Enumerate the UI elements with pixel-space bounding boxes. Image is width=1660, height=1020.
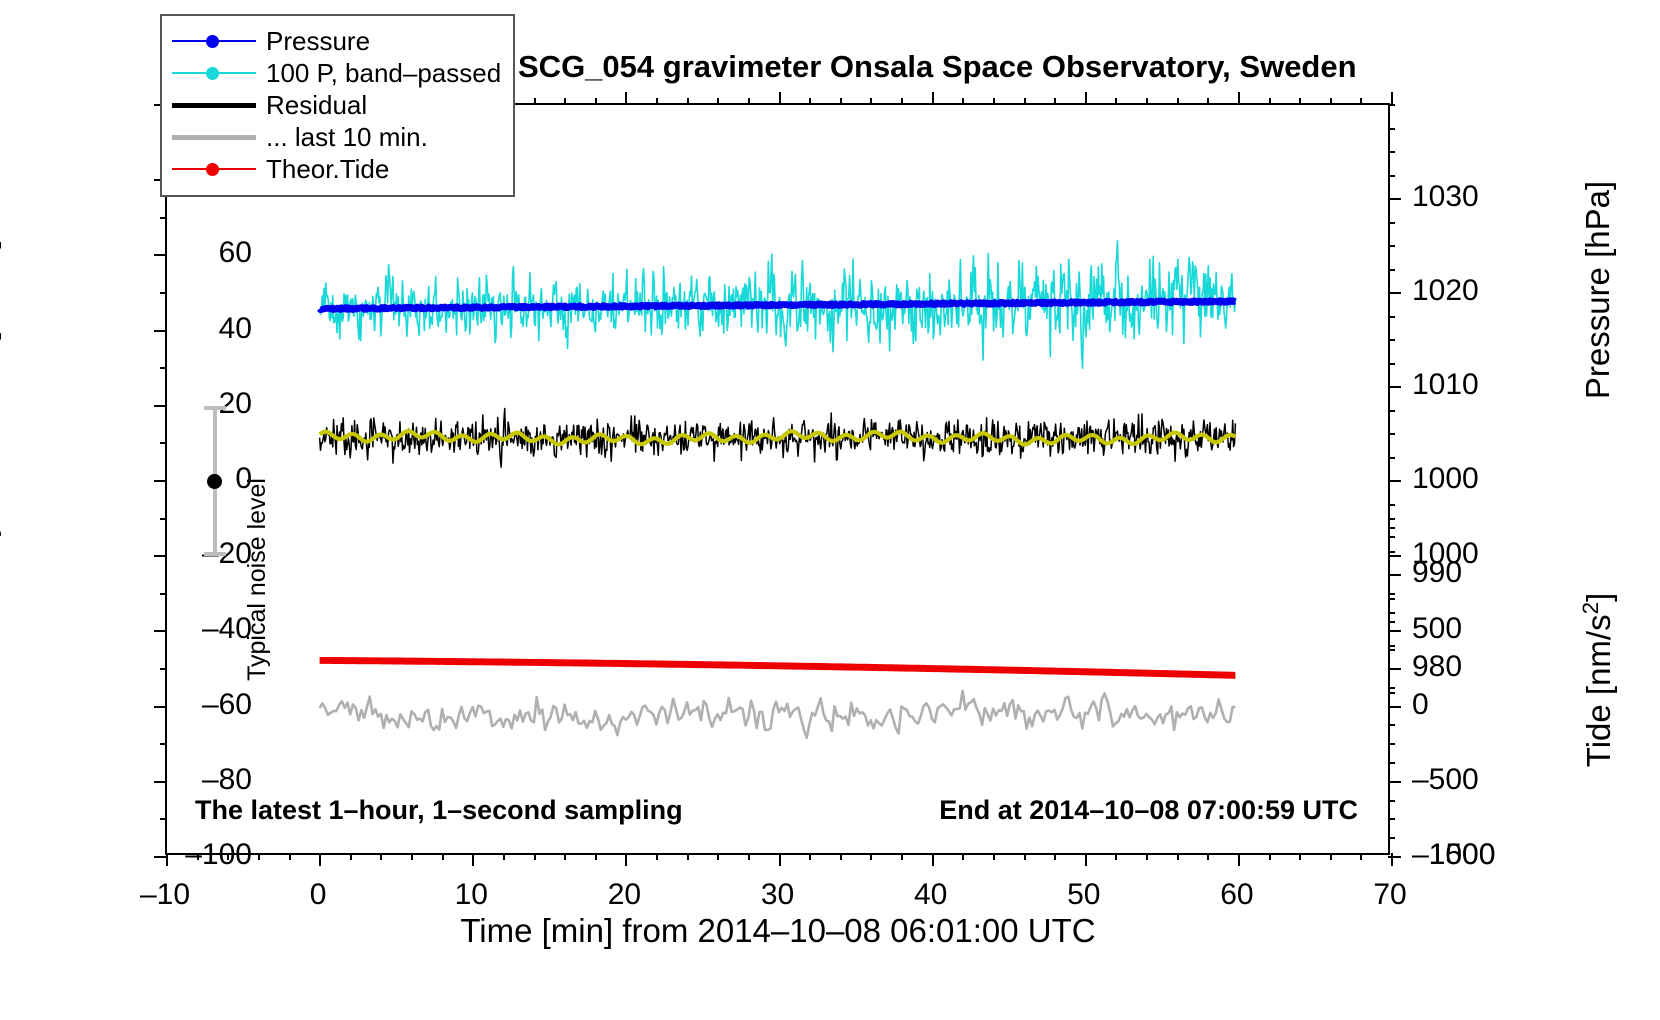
legend-item: Theor.Tide [172, 153, 503, 185]
x-axis-tick [1299, 853, 1301, 860]
x-axis-tick [534, 853, 536, 860]
x-axis-top-tick [1207, 98, 1209, 105]
y-axis-left-title: Obs’d Gravity, offset 20.0 [nm/s2] [0, 240, 2, 721]
y-axis-pressure-tick-label: 1020 [1412, 274, 1479, 308]
y-axis-tide-title-sup: 2 [1578, 602, 1603, 614]
x-axis-tick [442, 853, 444, 860]
x-axis-tick-label: 0 [310, 878, 327, 912]
y-axis-left-tick-label: 20 [219, 387, 252, 421]
legend-swatch-icon [172, 95, 256, 115]
y-axis-tide-title-text: Tide [nm/s [1580, 614, 1617, 767]
y-axis-tide-tick [1388, 574, 1395, 576]
x-axis-tick [779, 853, 781, 866]
y-axis-pressure-tick-label: 1010 [1412, 368, 1479, 402]
x-axis-top-tick [962, 98, 964, 105]
y-axis-pressure-tick [1388, 269, 1395, 271]
y-axis-left-tick-label: 40 [219, 312, 252, 346]
x-axis-tick [1269, 853, 1271, 860]
y-axis-left-tick [160, 367, 167, 369]
y-axis-pressure-tick-label: 1030 [1412, 180, 1479, 214]
y-axis-tide-tick [1388, 612, 1395, 614]
y-axis-left-tick [160, 518, 167, 520]
x-axis-tick-label: 50 [1067, 878, 1100, 912]
y-axis-pressure-tick [1388, 363, 1395, 365]
x-axis-top-tick [748, 98, 750, 105]
y-axis-tide-tick [1388, 818, 1395, 820]
legend-line-icon [172, 103, 256, 108]
y-axis-pressure-tick [1388, 175, 1395, 177]
x-axis-top-tick [1115, 98, 1117, 105]
x-axis-top-tick [717, 98, 719, 105]
y-axis-tide-tick [1388, 800, 1395, 802]
x-axis-top-tick [840, 98, 842, 105]
x-axis-tick [1054, 853, 1056, 860]
x-axis-top-tick [1146, 98, 1148, 105]
x-axis-tick [1360, 853, 1362, 860]
x-axis-top-tick [1024, 98, 1026, 105]
x-axis-top-tick [1054, 98, 1056, 105]
x-axis-top-tick [1299, 98, 1301, 105]
y-axis-tide-tick [1388, 724, 1395, 726]
legend-item-label: ... last 10 min. [266, 124, 428, 150]
x-axis-top-tick [1085, 92, 1087, 105]
y-axis-tide-tick [1388, 649, 1395, 651]
y-axis-left-tick [154, 330, 167, 332]
y-axis-tide-tick [1388, 555, 1401, 557]
y-axis-pressure-tick [1388, 598, 1395, 600]
x-axis-top-tick [901, 98, 903, 105]
x-axis-top-tick [625, 92, 627, 105]
y-axis-pressure-tick [1388, 527, 1395, 529]
x-axis-tick [595, 853, 597, 860]
x-axis-tick [656, 853, 658, 860]
y-axis-tide-tick [1388, 762, 1395, 764]
y-axis-tide-title: Tide [nm/s2] [1578, 593, 1618, 767]
y-axis-tide-tick [1388, 743, 1395, 745]
legend-swatch-icon [172, 31, 256, 51]
x-axis-top-tick [809, 98, 811, 105]
legend-item-label: Residual [266, 92, 367, 118]
y-axis-left-tick [154, 405, 167, 407]
x-axis-tick [350, 853, 352, 860]
chart-page: SCG_054 gravimeter Onsala Space Observat… [0, 0, 1660, 1020]
x-axis-tick [1177, 853, 1179, 860]
y-axis-left-tick [160, 668, 167, 670]
legend-marker-icon [206, 163, 219, 176]
x-axis-top-tick [1269, 98, 1271, 105]
y-axis-pressure-tick [1388, 198, 1401, 200]
x-axis-tick [748, 853, 750, 860]
legend-swatch-icon [172, 127, 256, 147]
x-axis-tick [1085, 853, 1087, 866]
x-axis-top-tick [870, 98, 872, 105]
y-axis-pressure-tick [1388, 316, 1395, 318]
x-axis-top-tick [1360, 98, 1362, 105]
y-axis-left-tick-label: –100 [185, 838, 252, 872]
y-axis-left-tick-label: 60 [219, 236, 252, 270]
legend-swatch-icon [172, 159, 256, 179]
y-axis-pressure-tick [1388, 504, 1395, 506]
y-axis-left-tick [154, 706, 167, 708]
x-axis-tick [411, 853, 413, 860]
y-axis-pressure-tick [1388, 339, 1395, 341]
x-axis-tick [870, 853, 872, 860]
y-axis-pressure-tick [1388, 245, 1395, 247]
x-axis-tick [901, 853, 903, 860]
y-axis-tide-tick-label: –500 [1412, 763, 1479, 797]
y-axis-pressure-tick [1388, 292, 1401, 294]
y-axis-tide-tick [1388, 687, 1395, 689]
x-axis-tick [1238, 853, 1240, 866]
noise-center-dot [207, 474, 222, 489]
end-time-note: End at 2014–10–08 07:00:59 UTC [939, 795, 1358, 826]
x-axis-top-tick [595, 98, 597, 105]
y-axis-left-tick [160, 442, 167, 444]
plot-area: The latest 1–hour, 1–second sampling End… [165, 103, 1390, 855]
page-title: SCG_054 gravimeter Onsala Space Observat… [518, 49, 1558, 85]
x-axis-top-tick [1238, 92, 1240, 105]
x-axis-tick [840, 853, 842, 860]
y-axis-left-tick [160, 743, 167, 745]
x-axis-tick [1146, 853, 1148, 860]
y-axis-tide-tick [1388, 630, 1401, 632]
x-axis-tick-label: 70 [1373, 878, 1406, 912]
x-axis-tick-label: 30 [761, 878, 794, 912]
x-axis-tick [932, 853, 934, 866]
x-axis-tick [625, 853, 627, 866]
legend: Pressure100 P, band–passedResidual... la… [160, 14, 515, 197]
y-axis-pressure-tick [1388, 480, 1401, 482]
legend-item: ... last 10 min. [172, 121, 503, 153]
sampling-note: The latest 1–hour, 1–second sampling [195, 795, 683, 826]
y-axis-pressure-tick-label: 1000 [1412, 462, 1479, 496]
noise-cap-bottom [204, 552, 226, 556]
y-axis-tide-tick [1388, 536, 1395, 538]
x-axis-top-tick [1391, 92, 1393, 105]
legend-item-label: Theor.Tide [266, 156, 389, 182]
y-axis-pressure-tick [1388, 692, 1395, 694]
y-axis-tide-title-tail: ] [1580, 593, 1617, 602]
x-axis-top-tick [993, 98, 995, 105]
legend-item: Residual [172, 89, 503, 121]
x-axis-top-tick [534, 98, 536, 105]
x-axis-tick-label: 40 [914, 878, 947, 912]
y-axis-left-tick [160, 217, 167, 219]
y-axis-pressure-tick [1388, 433, 1395, 435]
x-axis-top-tick [1177, 98, 1179, 105]
y-axis-left-tick [154, 630, 167, 632]
y-axis-left-tick [154, 555, 167, 557]
series-path [320, 691, 1236, 738]
y-axis-tide-tick [1388, 706, 1401, 708]
x-axis-tick [380, 853, 382, 860]
x-axis-tick-label: 10 [455, 878, 488, 912]
y-axis-left-title-text: Obs’d Gravity, offset 20.0 [nm/s [0, 261, 1, 720]
x-axis-tick [1391, 853, 1393, 866]
x-axis-tick-label: –10 [140, 878, 190, 912]
x-axis-tick [1115, 853, 1117, 860]
x-axis-tick [289, 853, 291, 860]
x-axis-tick [1207, 853, 1209, 860]
x-axis-top-tick [779, 92, 781, 105]
y-axis-pressure-tick [1388, 410, 1395, 412]
y-axis-pressure-tick-label: 980 [1412, 650, 1462, 684]
legend-marker-icon [206, 67, 219, 80]
noise-level-label: Typical noise level [243, 478, 272, 681]
x-axis-tick [993, 853, 995, 860]
y-axis-left-tick [160, 593, 167, 595]
x-axis-tick [319, 853, 321, 866]
x-axis-tick-label: 60 [1220, 878, 1253, 912]
series-path [320, 660, 1236, 675]
y-axis-tide-tick-label: 0 [1412, 688, 1429, 722]
y-axis-tide-tick [1388, 837, 1395, 839]
legend-marker-icon [206, 35, 219, 48]
y-axis-tide-tick [1388, 856, 1401, 858]
x-axis-tick [166, 853, 168, 866]
noise-cap-top [204, 406, 226, 410]
legend-swatch-icon [172, 63, 256, 83]
y-axis-pressure-tick [1388, 621, 1395, 623]
x-axis-tick [258, 853, 260, 860]
y-axis-left-tick-label: –60 [202, 688, 252, 722]
y-axis-left-title-tail: ] [0, 240, 1, 249]
y-axis-pressure-title: Pressure [hPa] [1579, 181, 1617, 399]
y-axis-tide-tick [1388, 781, 1401, 783]
x-axis-tick-label: 20 [608, 878, 641, 912]
y-axis-tide-tick-label: 1000 [1412, 537, 1479, 571]
x-axis-tick [809, 853, 811, 860]
x-axis-top-tick [687, 98, 689, 105]
y-axis-left-tick-label: –80 [202, 763, 252, 797]
x-axis-tick [687, 853, 689, 860]
x-axis-tick [717, 853, 719, 860]
x-axis-tick [472, 853, 474, 866]
y-axis-tide-tick [1388, 518, 1395, 520]
y-axis-pressure-tick [1388, 386, 1401, 388]
x-axis-top-tick [932, 92, 934, 105]
y-axis-tide-tick-label: 500 [1412, 612, 1462, 646]
y-axis-pressure-tick [1388, 551, 1395, 553]
x-axis-tick [564, 853, 566, 860]
y-axis-left-tick [160, 292, 167, 294]
x-axis-tick [1024, 853, 1026, 860]
y-axis-left-tick [154, 480, 167, 482]
x-axis-tick [503, 853, 505, 860]
legend-item-label: 100 P, band–passed [266, 60, 501, 86]
y-axis-left-tick [154, 781, 167, 783]
y-axis-left-tick [154, 254, 167, 256]
legend-item-label: Pressure [266, 28, 370, 54]
legend-item: Pressure [172, 25, 503, 57]
x-axis-tick [962, 853, 964, 860]
y-axis-left-tick [160, 818, 167, 820]
y-axis-pressure-tick [1388, 128, 1395, 130]
legend-line-icon [172, 135, 256, 140]
x-axis-title: Time [min] from 2014–10–08 06:01:00 UTC [460, 912, 1095, 950]
x-axis-top-tick [564, 98, 566, 105]
y-axis-tide-tick-label: –1500 [1412, 838, 1495, 872]
y-axis-pressure-tick [1388, 151, 1395, 153]
data-traces [167, 105, 1388, 853]
y-axis-pressure-tick [1388, 645, 1395, 647]
legend-item: 100 P, band–passed [172, 57, 503, 89]
x-axis-top-tick [1330, 98, 1332, 105]
x-axis-top-tick [656, 98, 658, 105]
y-axis-tide-tick [1388, 593, 1395, 595]
y-axis-tide-tick [1388, 668, 1395, 670]
x-axis-tick [1330, 853, 1332, 860]
y-axis-pressure-tick [1388, 457, 1395, 459]
y-axis-pressure-tick [1388, 222, 1395, 224]
